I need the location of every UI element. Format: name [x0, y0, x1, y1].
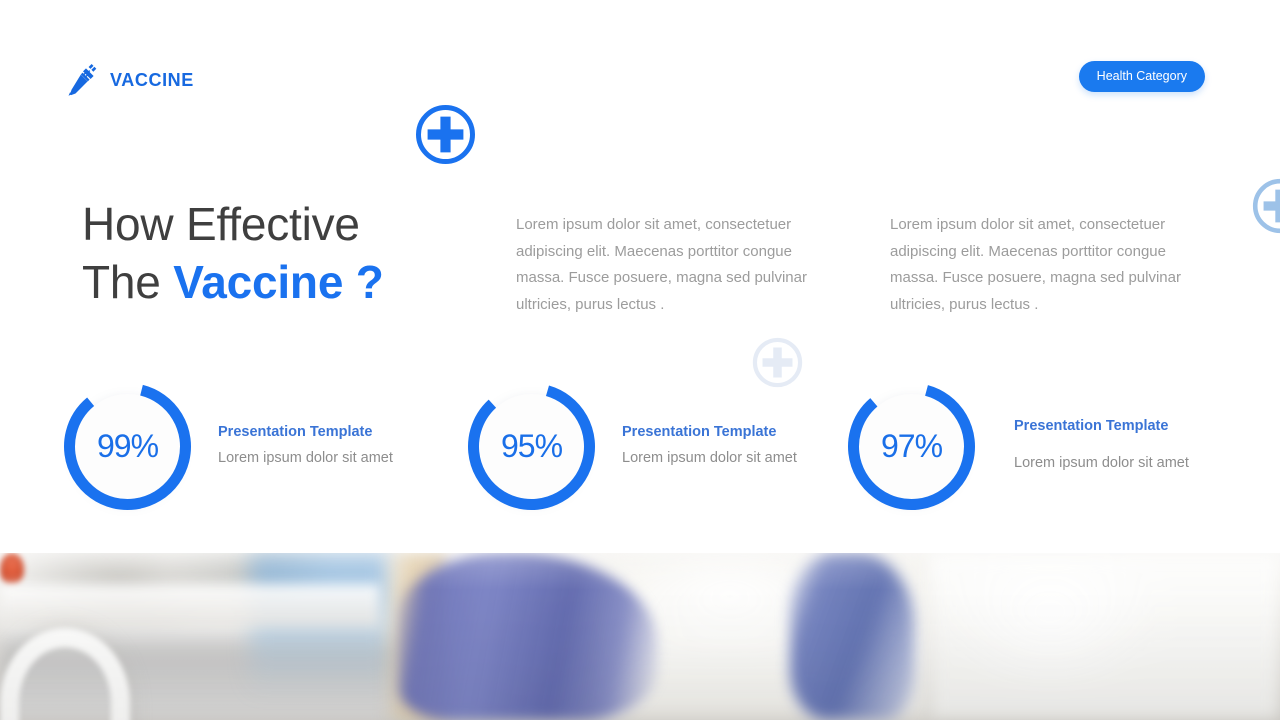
- stat-item[interactable]: 95% Presentation Template Lorem ipsum do…: [466, 381, 797, 512]
- stat-item[interactable]: 99% Presentation Template Lorem ipsum do…: [62, 381, 393, 512]
- stat-subtitle: Lorem ipsum dolor sit amet: [622, 450, 797, 466]
- headline-line-2-accent: Vaccine ?: [173, 256, 383, 308]
- brand-name: VACCINE: [110, 70, 194, 91]
- stat-text-block: Presentation Template Lorem ipsum dolor …: [1014, 418, 1189, 475]
- medical-cross-icon: [1252, 178, 1280, 234]
- stat-text-block: Presentation Template Lorem ipsum dolor …: [218, 424, 393, 470]
- stat-subtitle: Lorem ipsum dolor sit amet: [1014, 455, 1189, 471]
- page-title: How Effective The Vaccine ?: [82, 196, 384, 312]
- stat-subtitle: Lorem ipsum dolor sit amet: [218, 450, 393, 466]
- slide-root: VACCINE Health Category How Effective Th…: [0, 0, 1280, 720]
- photo-vignette: [0, 553, 1280, 720]
- hero-paragraph-right: Lorem ipsum dolor sit amet, consectetuer…: [890, 212, 1195, 319]
- headline-line-2-plain: The: [82, 256, 173, 308]
- medical-cross-icon: [415, 104, 476, 165]
- stat-text-block: Presentation Template Lorem ipsum dolor …: [622, 424, 797, 470]
- stat-item[interactable]: 97% Presentation Template Lorem ipsum do…: [846, 381, 1189, 512]
- health-category-badge[interactable]: Health Category: [1079, 61, 1205, 92]
- progress-dial: 99%: [62, 381, 193, 512]
- stat-value: 95%: [466, 381, 597, 512]
- stat-title: Presentation Template: [1014, 418, 1189, 434]
- progress-dial: 95%: [466, 381, 597, 512]
- syringe-icon: [66, 62, 100, 98]
- progress-dial: 97%: [846, 381, 977, 512]
- stat-value: 99%: [62, 381, 193, 512]
- hero-paragraph-left: Lorem ipsum dolor sit amet, consectetuer…: [516, 212, 821, 319]
- hero-photo: [0, 553, 1280, 720]
- headline-line-1: How Effective: [82, 198, 360, 250]
- stat-title: Presentation Template: [622, 424, 797, 440]
- brand-logo[interactable]: VACCINE: [66, 62, 194, 98]
- stat-value: 97%: [846, 381, 977, 512]
- stat-title: Presentation Template: [218, 424, 393, 440]
